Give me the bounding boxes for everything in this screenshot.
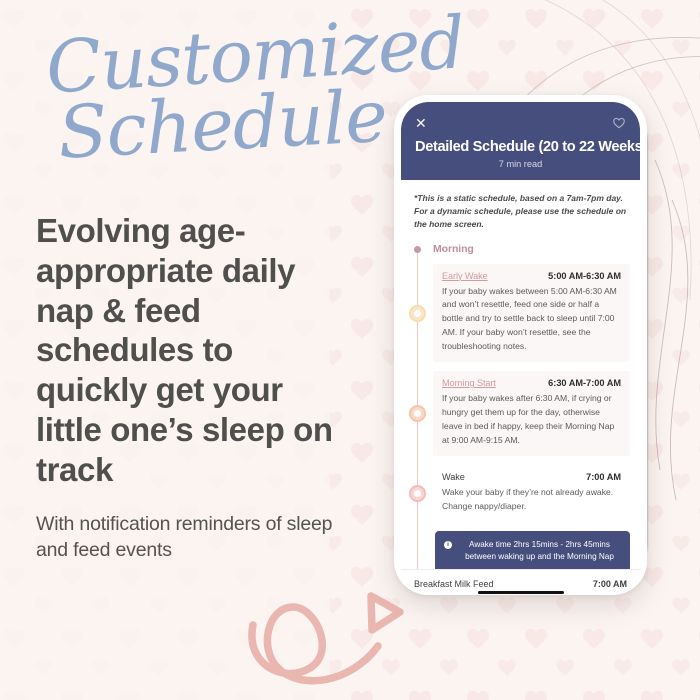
app-body: *This is a static schedule, based on a 7…: [401, 180, 640, 569]
headline: Evolving age-appropriate daily nap & fee…: [36, 211, 336, 490]
bottom-row-time: 7:00 AM: [593, 579, 627, 589]
subline: With notification reminders of sleep and…: [36, 512, 354, 564]
timeline-marker-icon: [409, 305, 426, 322]
entry-description: Wake your baby if they’re not already aw…: [442, 486, 621, 514]
app-header-icons: ✕: [415, 115, 626, 130]
schedule-timeline: Morning Early Wake 5:00 AM-6:30 AM If yo…: [401, 243, 640, 569]
script-title-line-2: Schedule: [57, 85, 398, 166]
curly-arrow-icon: [252, 607, 378, 681]
timeline-group-dot: [414, 246, 421, 253]
app-title: Detailed Schedule (20 to 22 Weeks): [415, 139, 626, 155]
close-icon[interactable]: ✕: [415, 116, 427, 130]
heart-icon[interactable]: [612, 116, 626, 130]
arrow-head-icon: [371, 596, 400, 630]
timeline-group-header: Morning: [401, 243, 640, 255]
entry-name[interactable]: Early Wake: [442, 271, 488, 281]
entry-header: Wake 7:00 AM: [442, 472, 621, 482]
timeline-entry[interactable]: Early Wake 5:00 AM-6:30 AM If your baby …: [401, 264, 640, 363]
app-subtitle: 7 min read: [415, 159, 626, 169]
home-indicator: [478, 591, 564, 594]
entry-header: Morning Start 6:30 AM-7:00 AM: [442, 378, 621, 388]
entry-card[interactable]: Early Wake 5:00 AM-6:30 AM If your baby …: [433, 264, 630, 363]
entry-card[interactable]: Wake 7:00 AM Wake your baby if they’re n…: [433, 465, 630, 522]
app-header: ✕ Detailed Schedule (20 to 22 Weeks) 7 m…: [401, 102, 640, 180]
promo-column: Customized Schedule Evolving age-appropr…: [36, 26, 396, 564]
schedule-disclaimer: *This is a static schedule, based on a 7…: [401, 180, 640, 232]
timeline-marker-icon: [409, 485, 426, 502]
entry-time: 6:30 AM-7:00 AM: [548, 378, 621, 388]
entry-description: If your baby wakes between 5:00 AM-6:30 …: [442, 285, 621, 355]
entry-name: Wake: [442, 472, 465, 482]
bottom-row-label: Breakfast Milk Feed: [414, 579, 494, 589]
phone-mockup: ✕ Detailed Schedule (20 to 22 Weeks) 7 m…: [394, 95, 647, 595]
entry-header: Early Wake 5:00 AM-6:30 AM: [442, 271, 621, 281]
info-icon: i: [444, 541, 452, 549]
awake-time-banner: i Awake time 2hrs 15mins - 2hrs 45mins b…: [435, 531, 630, 569]
bottom-schedule-row[interactable]: Breakfast Milk Feed 7:00 AM: [401, 569, 640, 595]
entry-time: 5:00 AM-6:30 AM: [548, 271, 621, 281]
phone-screen: ✕ Detailed Schedule (20 to 22 Weeks) 7 m…: [401, 102, 640, 595]
entry-time: 7:00 AM: [586, 472, 621, 482]
awake-time-text: Awake time 2hrs 15mins - 2hrs 45mins bet…: [458, 539, 621, 564]
entry-name[interactable]: Morning Start: [442, 378, 496, 388]
group-label: Morning: [433, 243, 630, 255]
entry-card[interactable]: Morning Start 6:30 AM-7:00 AM If your ba…: [433, 371, 630, 456]
entry-description: If your baby wakes after 6:30 AM, if cry…: [442, 392, 621, 448]
script-title: Customized Schedule: [36, 26, 396, 157]
timeline-marker-icon: [409, 405, 426, 422]
timeline-entry[interactable]: Wake 7:00 AM Wake your baby if they’re n…: [401, 465, 640, 522]
timeline-entry[interactable]: Morning Start 6:30 AM-7:00 AM If your ba…: [401, 371, 640, 456]
